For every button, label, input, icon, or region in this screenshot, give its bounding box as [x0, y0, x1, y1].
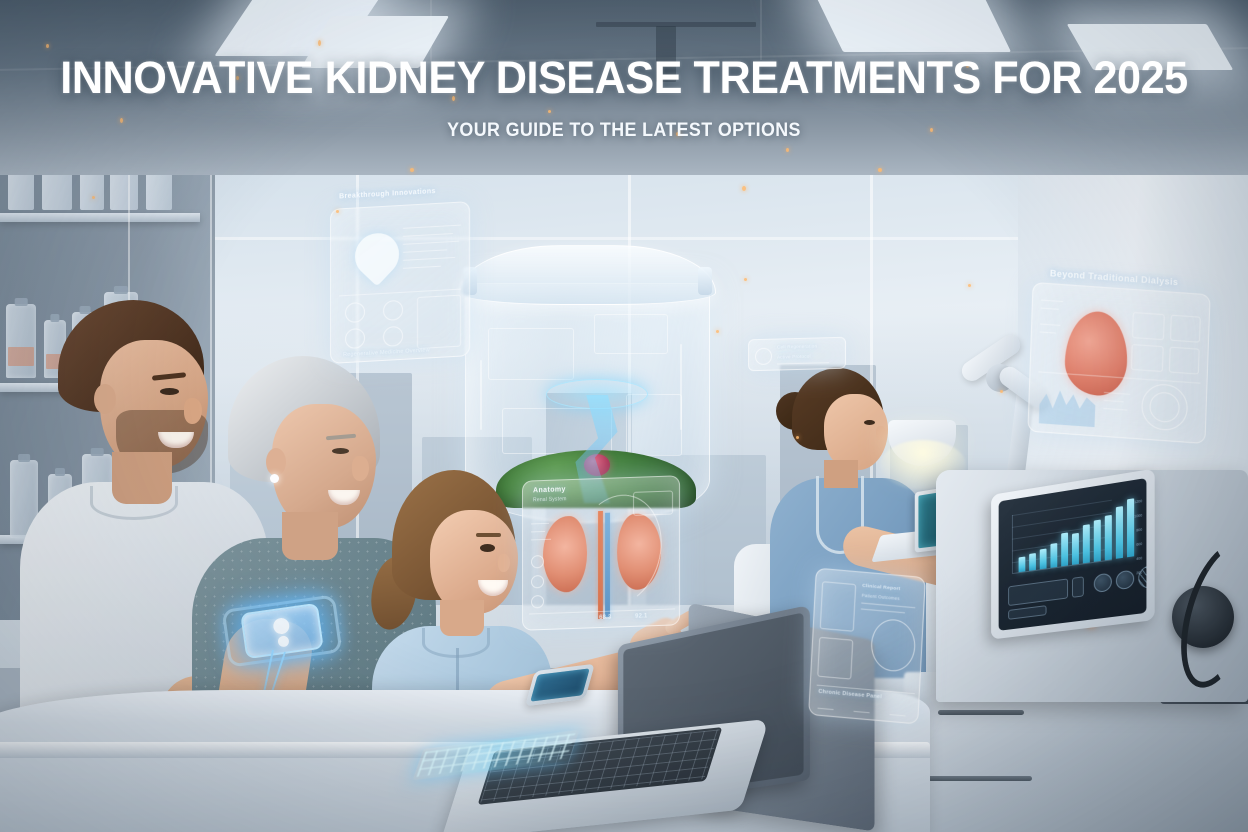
chart-ytick: 1000	[1134, 513, 1142, 518]
metric-ring-icon	[345, 328, 365, 349]
chart-bar	[1019, 557, 1026, 572]
dust-mote	[410, 168, 414, 172]
panel-report-subtitle: Patient Outcomes	[862, 593, 900, 601]
metric-ring-icon	[383, 326, 403, 347]
panel-report-title: Clinical Report	[862, 583, 901, 592]
chart-bar	[1083, 524, 1090, 563]
scan-tile	[1169, 347, 1200, 375]
chart-bar	[1029, 553, 1036, 570]
panel-innovations-footer: Regenerative Medicine Overview	[343, 347, 430, 358]
report-thumb	[820, 581, 857, 632]
kidney-illustration	[1064, 309, 1129, 397]
chart-bar	[1040, 548, 1047, 569]
dust-mote	[786, 148, 789, 152]
chart-ytick: 400	[1136, 556, 1142, 561]
molecule-pin-icon	[346, 224, 408, 286]
machine-monitor[interactable]: 1200 1000 800 600 400 200	[991, 468, 1155, 639]
page-title: INNOVATIVE KIDNEY DISEASE TREATMENTS FOR…	[25, 52, 1223, 104]
dust-mote	[318, 40, 321, 46]
dust-mote	[92, 196, 95, 199]
holo-panel-dialysis[interactable]: Beyond Traditional Dialysis	[1027, 282, 1210, 444]
poster-scene: INNOVATIVE KIDNEY DISEASE TREATMENTS FOR…	[0, 0, 1248, 832]
page-subtitle: YOUR GUIDE TO THE LATEST OPTIONS	[37, 120, 1210, 142]
monitor-controls[interactable]	[1008, 565, 1136, 622]
holo-panel-report[interactable]: Clinical Report Patient Outcomes Chronic…	[808, 568, 926, 725]
chart-ytick: 600	[1136, 542, 1142, 547]
metric-ring-icon	[345, 302, 365, 323]
dust-mote	[336, 210, 339, 213]
panel-anatomy-metric-b: 92.1	[635, 613, 647, 619]
scan-tile	[1132, 312, 1165, 340]
organ-scan-icon	[870, 617, 917, 673]
metric-ring-icon	[531, 595, 544, 608]
scan-tile	[633, 490, 673, 515]
report-thumb	[817, 637, 853, 680]
reactor-lid	[459, 245, 716, 305]
panel-anatomy-subtitle: Renal System	[533, 496, 567, 503]
chart-bar	[1094, 519, 1101, 562]
holo-panel-innovations[interactable]: Breakthrough Innovations Regenerative Me…	[330, 201, 470, 364]
chart-bar	[1105, 515, 1112, 561]
chart-bar	[1050, 543, 1057, 567]
dust-mote	[878, 168, 882, 172]
panel-tag-title: Cell Regeneration	[777, 343, 817, 349]
dust-mote	[968, 284, 971, 287]
dust-mote	[796, 436, 799, 439]
scan-thumbnail	[417, 295, 461, 349]
holo-panel-anatomy[interactable]: Anatomy Renal System 68.3 92.1	[522, 475, 680, 631]
dust-mote	[716, 330, 719, 333]
scan-tile	[1170, 315, 1201, 343]
dust-mote	[744, 278, 747, 281]
panel-anatomy-metric-a: 68.3	[599, 615, 611, 621]
chart-bar	[1072, 533, 1079, 565]
monitor-screen: 1200 1000 800 600 400 200	[999, 478, 1147, 631]
metric-ring-icon	[383, 300, 403, 321]
chart-bar	[1127, 498, 1134, 557]
panel-anatomy-title: Anatomy	[533, 486, 566, 494]
chart-bar	[1061, 532, 1068, 566]
chart-ytick: 1200	[1134, 499, 1142, 504]
scan-tile	[1131, 344, 1164, 372]
chart-plot-area	[1012, 500, 1112, 574]
dust-mote	[742, 186, 746, 191]
poster-title-block: INNOVATIVE KIDNEY DISEASE TREATMENTS FOR…	[0, 52, 1248, 142]
dust-mote	[1000, 390, 1003, 393]
holo-panel-tag[interactable]: Cell Regeneration Active Protocol	[748, 337, 846, 372]
panel-tag-subtitle: Active Protocol	[777, 354, 811, 360]
dust-mote	[46, 44, 49, 48]
chart-ytick: 800	[1136, 528, 1142, 533]
chart-bar	[1116, 506, 1123, 558]
cell-icon	[755, 348, 772, 365]
